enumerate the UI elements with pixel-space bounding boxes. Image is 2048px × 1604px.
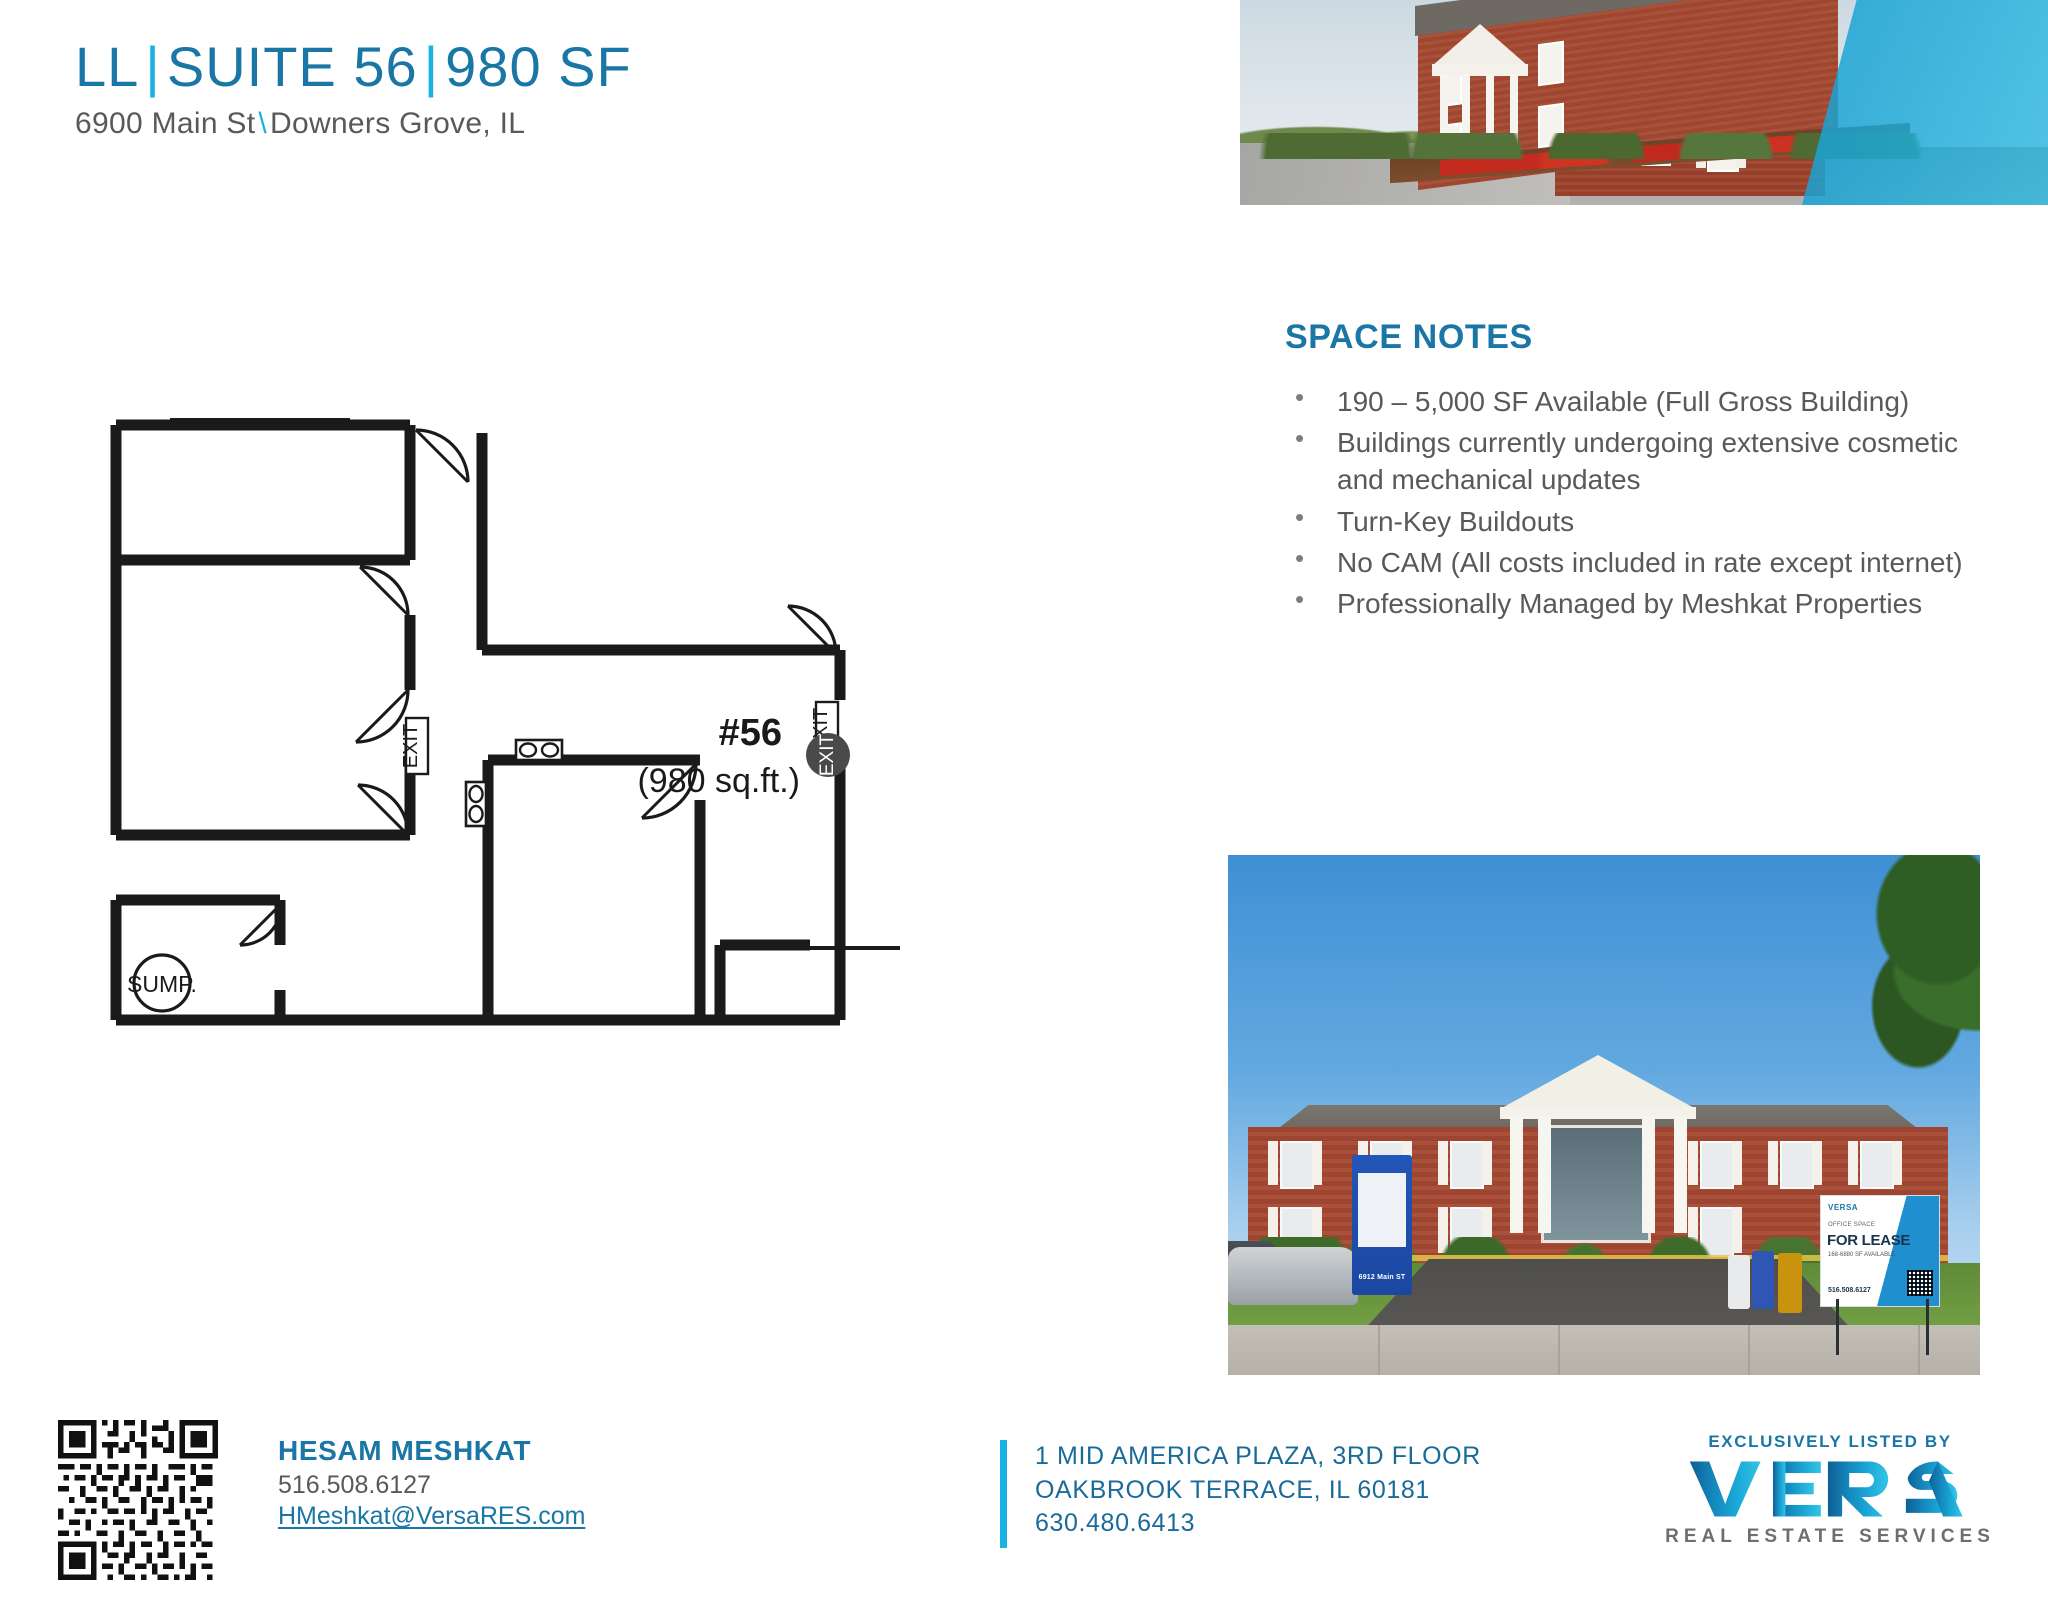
shutter [1812,1141,1822,1185]
list-item: Buildings currently undergoing extensive… [1285,424,1985,498]
building-exterior-photo-bottom: 6912 Main ST VERSA OFFICE SPACE FOR LEAS… [1228,855,1980,1375]
monument-sign: 6912 Main ST [1352,1155,1412,1295]
shutter [1732,1141,1742,1185]
floor-plan: EXIT EXIT EXIT SUMP. #56 (980 sq.ft.) [110,400,1110,1120]
space-notes-title: SPACE NOTES [1285,318,1985,357]
exit-sign-label: EXIT [400,724,422,768]
pediment [1432,24,1528,66]
lease-sign-headline: FOR LEASE [1827,1232,1910,1249]
suite-area-label: (980 sq.ft.) [637,762,800,800]
qr-code-icon[interactable] [58,1420,218,1580]
pediment-triangle [1500,1055,1696,1109]
tree [1798,855,1980,1075]
plumbing-fixture-sink-double [516,740,562,760]
versa-wordmark [1688,1458,1971,1520]
shutter [1688,1141,1698,1185]
space-notes-list: 190 – 5,000 SF Available (Full Gross Bui… [1285,383,1985,622]
list-item: Turn-Key Buildouts [1285,503,1985,540]
newspaper-box [1778,1253,1802,1313]
title-floor: LL [75,35,139,98]
lease-sign-phone: 516.508.6127 [1828,1287,1871,1294]
lease-sign-brand: VERSA [1828,1203,1858,1212]
space-notes-section: SPACE NOTES 190 – 5,000 SF Available (Fu… [1285,318,1985,626]
window [1700,1141,1734,1189]
shutter [1482,1141,1492,1185]
shutter [1268,1141,1278,1185]
office-phone[interactable]: 630.480.6413 [1035,1507,1481,1541]
page-title: LL|SUITE 56|980 SF [75,38,1175,97]
for-lease-sign: VERSA OFFICE SPACE FOR LEASE 168-6880 SF… [1820,1195,1940,1307]
car [1228,1247,1358,1305]
address-separator: \ [255,107,270,140]
sign-post [1926,1299,1929,1355]
broker-name: HESAM MESHKAT [278,1435,698,1467]
address-city: Downers Grove, IL [270,107,525,140]
property-address: 6900 Main St\Downers Grove, IL [75,107,1175,141]
list-item: 190 – 5,000 SF Available (Full Gross Bui… [1285,383,1985,420]
plumbing-fixture-sink-side [466,782,486,826]
address-street: 6900 Main St [75,107,255,140]
column [1510,1117,1523,1233]
window [1450,1141,1484,1189]
monument-sign-address: 6912 Main ST [1357,1274,1407,1281]
lease-sign-office-space: OFFICE SPACE [1828,1222,1875,1228]
window [1780,1141,1814,1189]
versa-brand-logo: EXCLUSIVELY LISTED BY RE [1660,1432,2000,1548]
column [1642,1117,1655,1233]
entry-pediment [1500,1055,1696,1117]
building-exterior-photo-top [1240,0,2048,205]
sign-post [1836,1299,1839,1355]
sidewalk-seam [1558,1325,1560,1375]
page-header: LL|SUITE 56|980 SF 6900 Main St\Downers … [75,38,1175,141]
title-separator-1: | [139,35,167,98]
shutter [1848,1141,1858,1185]
broker-phone[interactable]: 516.508.6127 [278,1471,698,1500]
office-address-line-2: OAKBROOK TERRACE, IL 60181 [1035,1474,1481,1508]
office-address-text: 1 MID AMERICA PLAZA, 3RD FLOOR OAKBROOK … [1035,1440,1481,1541]
versa-tagline: REAL ESTATE SERVICES [1660,1526,2000,1548]
shutter [1892,1141,1902,1185]
window [1860,1141,1894,1189]
sump-label: SUMP. [127,971,197,997]
shutter [1438,1141,1448,1185]
lease-sign-availability: 168-6880 SF AVAILABLE [1828,1252,1896,1258]
suite-number-label: #56 [719,712,782,754]
lease-sign-qr-code-icon [1907,1270,1933,1296]
exit-badge: EXIT [806,733,850,777]
newspaper-box [1728,1255,1750,1309]
list-item: No CAM (All costs included in rate excep… [1285,544,1985,581]
sidewalk [1228,1325,1980,1375]
column [1538,1117,1551,1233]
shutter [1312,1141,1322,1185]
window [1280,1141,1314,1189]
sidewalk-seam [1748,1325,1750,1375]
office-address-block: 1 MID AMERICA PLAZA, 3RD FLOOR OAKBROOK … [1000,1440,1481,1548]
exit-sign-corridor: EXIT [400,718,428,774]
column [1674,1117,1687,1233]
window [1538,41,1564,86]
list-item: Professionally Managed by Meshkat Proper… [1285,585,1985,622]
broker-contact: HESAM MESHKAT 516.508.6127 HMeshkat@Vers… [278,1435,698,1531]
exclusively-listed-by-label: EXCLUSIVELY LISTED BY [1660,1432,2000,1452]
title-suite: SUITE 56 [167,35,418,98]
title-sqft: 980 SF [445,35,632,98]
broker-email[interactable]: HMeshkat@VersaRES.com [278,1502,698,1531]
title-separator-2: | [418,35,446,98]
shutter [1768,1141,1778,1185]
page-footer: HESAM MESHKAT 516.508.6127 HMeshkat@Vers… [0,1400,2048,1604]
office-address-line-1: 1 MID AMERICA PLAZA, 3RD FLOOR [1035,1440,1481,1474]
accent-bar [1000,1440,1007,1548]
sump-marker: SUMP. [127,955,197,1011]
entry-doors [1541,1125,1651,1243]
sidewalk-seam [1378,1325,1380,1375]
exit-badge-label: EXIT [817,733,838,776]
qr-code-svg [58,1420,218,1580]
monument-sign-panel [1358,1173,1406,1247]
entablature [1500,1107,1696,1119]
sidewalk-seam [1918,1325,1920,1375]
newspaper-boxes [1728,1249,1804,1317]
mailbox [1752,1251,1774,1309]
